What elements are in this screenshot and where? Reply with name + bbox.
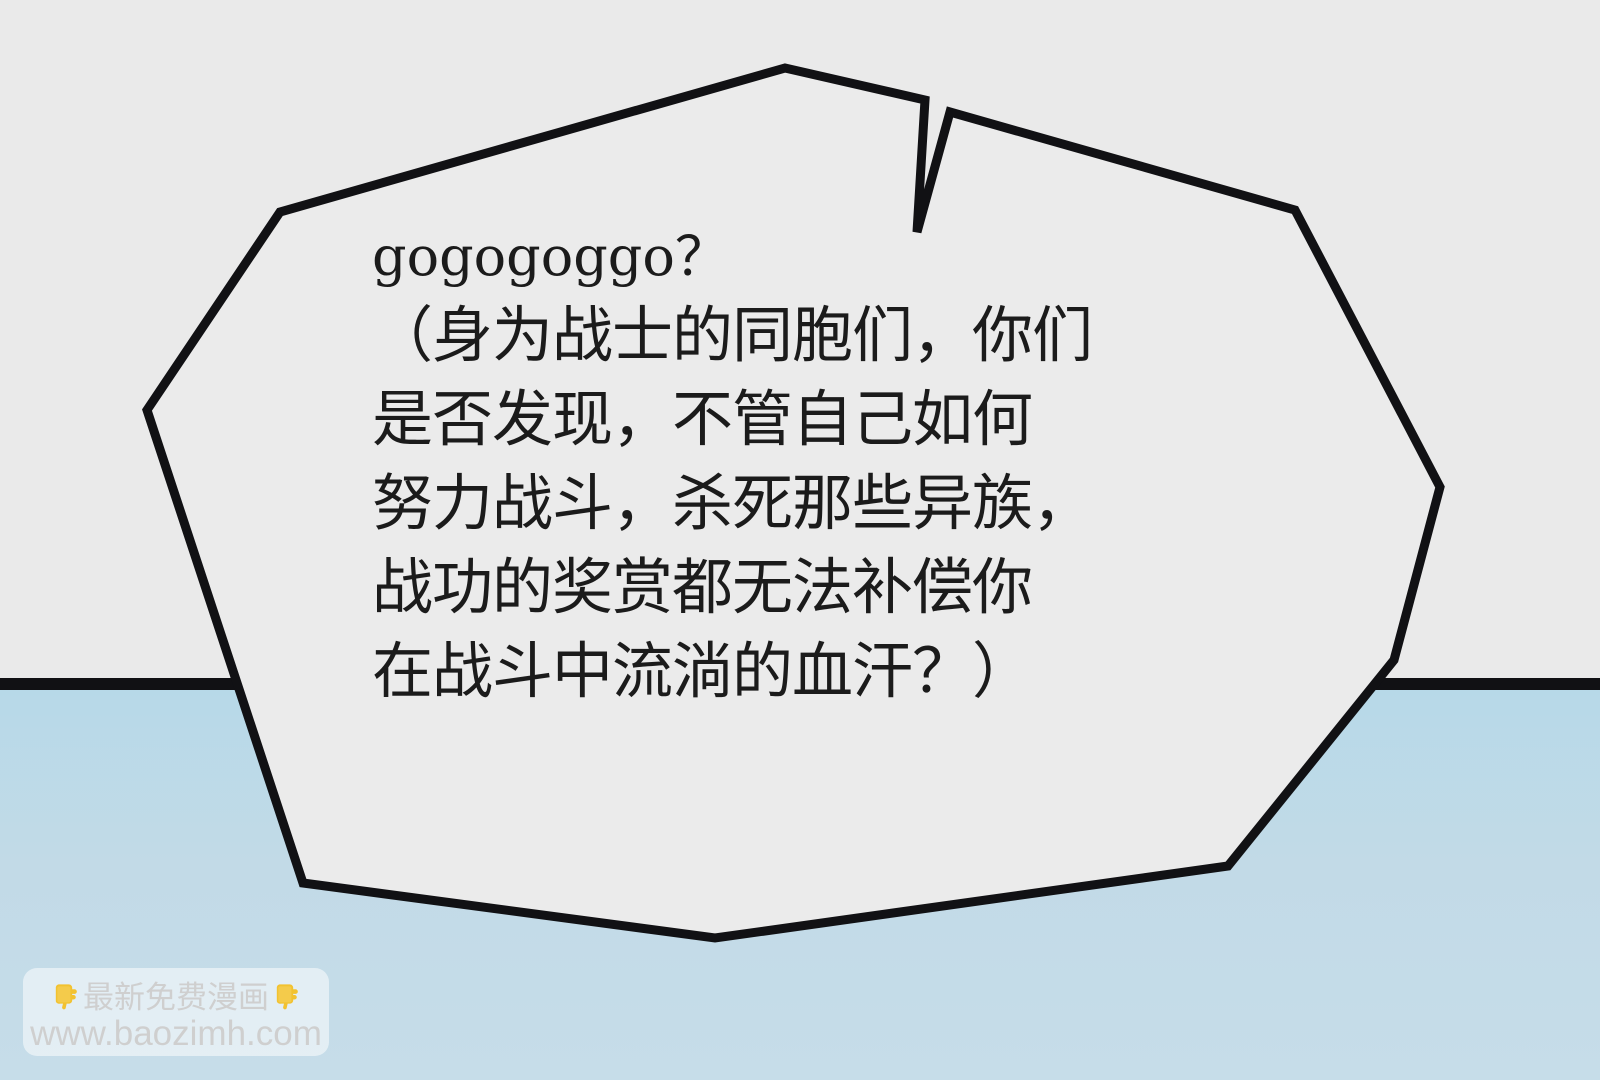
speech-bubble-text: gogogoggo？ （身为战士的同胞们，你们 是否发现，不管自己如何 努力战斗… [372,220,1232,714]
pointing-down-hand-icon [50,979,81,1010]
comic-panel: gogogoggo？ （身为战士的同胞们，你们 是否发现，不管自己如何 努力战斗… [0,0,1600,1080]
watermark-promo-row: 最新免费漫画 [33,973,319,1015]
bubble-line-1: gogogoggo？ [372,220,1232,294]
pointing-down-hand-icon [271,979,302,1010]
bubble-line-4: 努力战斗，杀死那些异族， [372,462,1232,546]
site-watermark: 最新免费漫画 www.baozimh.com [23,968,329,1056]
watermark-url-row: www.baozimh.com [33,1015,319,1053]
bubble-line-5: 战功的奖赏都无法补偿你 [372,546,1232,630]
bubble-line-2: （身为战士的同胞们，你们 [372,294,1232,378]
watermark-url-text: www.baozimh.com [30,1014,322,1054]
bubble-line-6: 在战斗中流淌的血汗？） [372,630,1232,714]
bubble-line-3: 是否发现，不管自己如何 [372,378,1232,462]
watermark-promo-text: 最新免费漫画 [83,972,269,1017]
